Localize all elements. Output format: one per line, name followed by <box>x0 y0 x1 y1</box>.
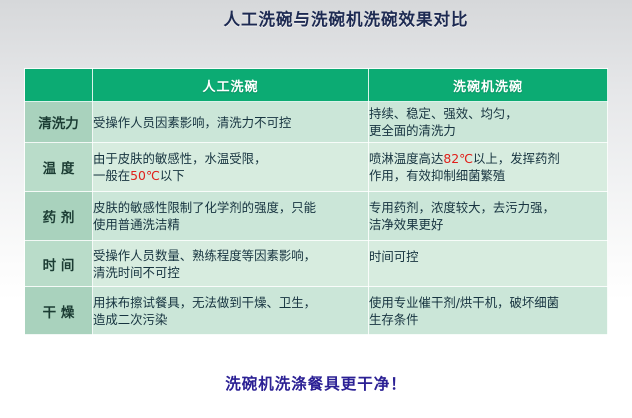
cell-manual-drying: 用抹布擦试餐具，无法做到干燥、卫生， 造成二次污染 <box>93 287 369 335</box>
table-row: 干 燥 用抹布擦试餐具，无法做到干燥、卫生， 造成二次污染 使用专业催干剂/烘干… <box>25 287 608 335</box>
row-label-temperature: 温 度 <box>25 143 93 192</box>
cell-machine-cleaning-power: 持续、稳定、强效、均匀， 更全面的清洗力 <box>369 102 608 143</box>
cell-text-line-2: 清洗时间不可控 <box>93 265 180 280</box>
header-cell-machine: 洗碗机洗碗 <box>369 69 608 102</box>
cell-machine-drying: 使用专业催干剂/烘干机，破坏细菌 生存条件 <box>369 287 608 335</box>
cell-text-line-2: 生存条件 <box>369 312 419 327</box>
table-row: 清洗力 受操作人员因素影响，清洗力不可控 持续、稳定、强效、均匀， 更全面的清洗… <box>25 102 608 143</box>
cell-text-line-2: 使用普通洗洁精 <box>93 217 180 232</box>
cell-machine-time: 时间可控 <box>369 241 608 287</box>
cell-text-line-2: 更全面的清洗力 <box>369 123 456 138</box>
cell-text-line-1: 皮肤的敏感性限制了化学剂的强度，只能 <box>93 200 316 215</box>
cell-manual-detergent: 皮肤的敏感性限制了化学剂的强度，只能 使用普通洗洁精 <box>93 192 369 241</box>
page-title: 人工洗碗与洗碗机洗碗效果对比 <box>0 6 632 30</box>
cell-text: 受操作人员因素影响，清洗力不可控 <box>93 115 291 130</box>
cell-text-line-1: 专用药剂，浓度较大，去污力强， <box>369 200 555 215</box>
cell-machine-detergent: 专用药剂，浓度较大，去污力强， 洁净效果更好 <box>369 192 608 241</box>
cell-text-line-2: 造成二次污染 <box>93 312 167 327</box>
cell-text-line-1: 持续、稳定、强效、均匀， <box>369 106 518 121</box>
row-label-time: 时 间 <box>25 241 93 287</box>
row-label-drying: 干 燥 <box>25 287 93 335</box>
slide-canvas: 人工洗碗与洗碗机洗碗效果对比 人工洗碗 洗碗机洗碗 清洗力 受操作人员因素影响，… <box>0 0 632 418</box>
header-cell-blank <box>25 69 93 102</box>
cell-text-line-2: 洁净效果更好 <box>369 217 443 232</box>
cell-text: 时间可控 <box>369 249 419 264</box>
cell-manual-cleaning-power: 受操作人员因素影响，清洗力不可控 <box>93 102 369 143</box>
cell-text-line-2: 作用，有效抑制细菌繁殖 <box>369 168 505 183</box>
cell-text-line-2: 一般在50℃以下 <box>93 168 185 183</box>
emphasis-text: 82℃ <box>443 151 473 166</box>
cell-machine-temperature: 喷淋温度高达82℃以上，发挥药剂 作用，有效抑制细菌繁殖 <box>369 143 608 192</box>
table-row: 温 度 由于皮肤的敏感性，水温受限， 一般在50℃以下 喷淋温度高达82℃以上，… <box>25 143 608 192</box>
cell-manual-time: 受操作人员数量、熟练程度等因素影响， 清洗时间不可控 <box>93 241 369 287</box>
emphasis-text: 50℃ <box>130 168 160 183</box>
header-cell-manual: 人工洗碗 <box>93 69 369 102</box>
comparison-table: 人工洗碗 洗碗机洗碗 清洗力 受操作人员因素影响，清洗力不可控 持续、稳定、强效… <box>24 68 608 335</box>
cell-text-line-1: 由于皮肤的敏感性，水温受限， <box>93 151 266 166</box>
emphasis-text: 不可控 <box>254 115 291 130</box>
cell-text-line-1: 受操作人员数量、熟练程度等因素影响， <box>93 248 316 263</box>
table-row: 时 间 受操作人员数量、熟练程度等因素影响， 清洗时间不可控 时间可控 <box>25 241 608 287</box>
row-label-detergent: 药 剂 <box>25 192 93 241</box>
cell-text-line-1: 使用专业催干剂/烘干机，破坏细菌 <box>369 295 559 310</box>
row-label-cleaning-power: 清洗力 <box>25 102 93 143</box>
table-row: 药 剂 皮肤的敏感性限制了化学剂的强度，只能 使用普通洗洁精 专用药剂，浓度较大… <box>25 192 608 241</box>
conclusion-text: 洗碗机洗涤餐具更干净！ <box>0 372 632 394</box>
cell-text-line-1: 喷淋温度高达82℃以上，发挥药剂 <box>369 151 560 166</box>
cell-manual-temperature: 由于皮肤的敏感性，水温受限， 一般在50℃以下 <box>93 143 369 192</box>
table-header-row: 人工洗碗 洗碗机洗碗 <box>25 69 608 102</box>
cell-text-line-1: 用抹布擦试餐具，无法做到干燥、卫生， <box>93 295 316 310</box>
